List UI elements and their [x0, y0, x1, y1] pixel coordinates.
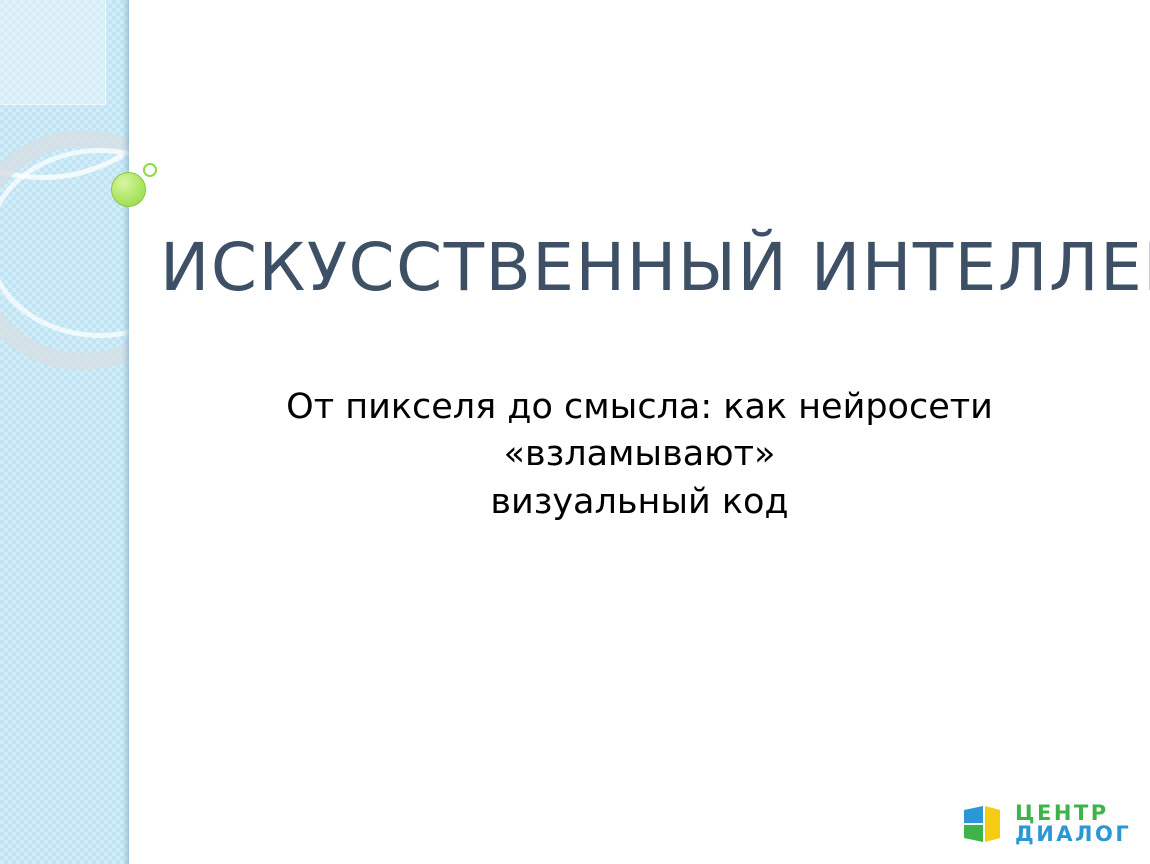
- logo-mark-icon: [962, 804, 1006, 844]
- green-bubble-large-icon: [111, 172, 146, 207]
- organization-logo: ЦЕНТР ДИАЛОГ: [962, 803, 1131, 845]
- subtitle-line-1: От пикселя до смысла: как нейросети: [129, 384, 1150, 431]
- slide-subtitle: От пикселя до смысла: как нейросети «взл…: [129, 384, 1150, 526]
- sidebar-edge-gradient: [122, 0, 129, 864]
- green-bubble-small-icon: [143, 163, 157, 177]
- logo-word-bottom: ДИАЛОГ: [1015, 824, 1131, 845]
- subtitle-line-2: «взламывают»: [129, 431, 1150, 478]
- logo-wordmark: ЦЕНТР ДИАЛОГ: [1015, 803, 1131, 845]
- decorative-white-ellipse-icon: [0, 148, 129, 338]
- presentation-slide: ИСКУССТВЕННЫЙ ИНТЕЛЛЕКТ От пикселя до см…: [0, 0, 1150, 864]
- slide-title: ИСКУССТВЕННЫЙ ИНТЕЛЛЕКТ: [160, 230, 1060, 306]
- decorative-sidebar: [0, 0, 129, 864]
- subtitle-line-3: визуальный код: [129, 479, 1150, 526]
- logo-word-top: ЦЕНТР: [1015, 803, 1131, 824]
